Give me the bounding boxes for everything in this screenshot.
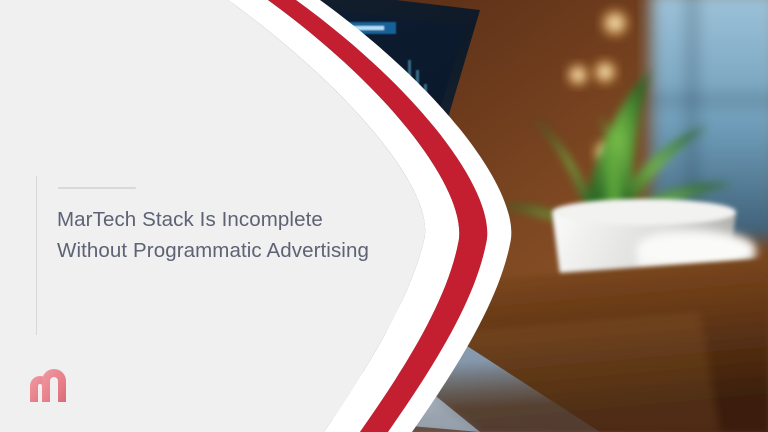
page-title: MarTech Stack Is Incomplete Without Prog…: [57, 204, 407, 266]
vertical-accent-rule: [36, 176, 37, 335]
kicker-accent-rule: [58, 187, 136, 189]
m-monogram-icon: [28, 366, 74, 406]
brand-logo[interactable]: [28, 366, 74, 406]
headline-block: MarTech Stack Is Incomplete Without Prog…: [36, 176, 406, 336]
slide-canvas: MarTech Stack Is Incomplete Without Prog…: [0, 0, 768, 432]
